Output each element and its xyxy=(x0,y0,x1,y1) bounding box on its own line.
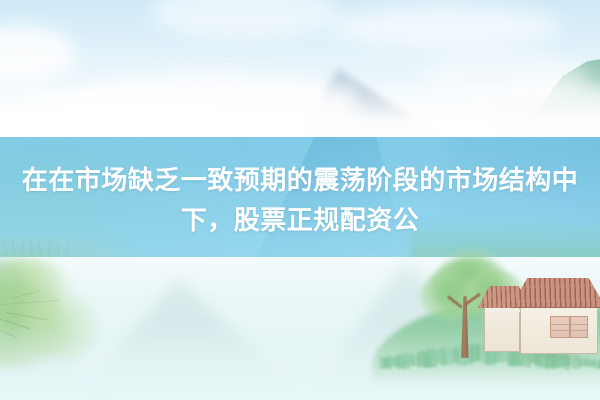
headline-text: 在在市场缺乏一致预期的震荡阶段的市场结构中下，股票正规配资公 xyxy=(0,160,600,240)
foliage-left xyxy=(0,252,152,382)
sky-haze xyxy=(0,81,600,137)
window-mullion-vertical xyxy=(569,317,571,337)
house-roof-main xyxy=(510,278,600,308)
window-mullion-horizontal xyxy=(551,330,587,331)
cloud-icon xyxy=(0,26,76,84)
house-window xyxy=(550,316,588,338)
sky-band xyxy=(0,0,600,137)
cottage xyxy=(484,282,600,364)
cloud-icon xyxy=(330,4,560,50)
foliage-blob xyxy=(16,294,102,360)
window-mullion-horizontal xyxy=(551,324,587,325)
cloud-icon xyxy=(150,0,340,40)
banner-image: 在在市场缺乏一致预期的震荡阶段的市场结构中下，股票正规配资公 xyxy=(0,0,600,400)
